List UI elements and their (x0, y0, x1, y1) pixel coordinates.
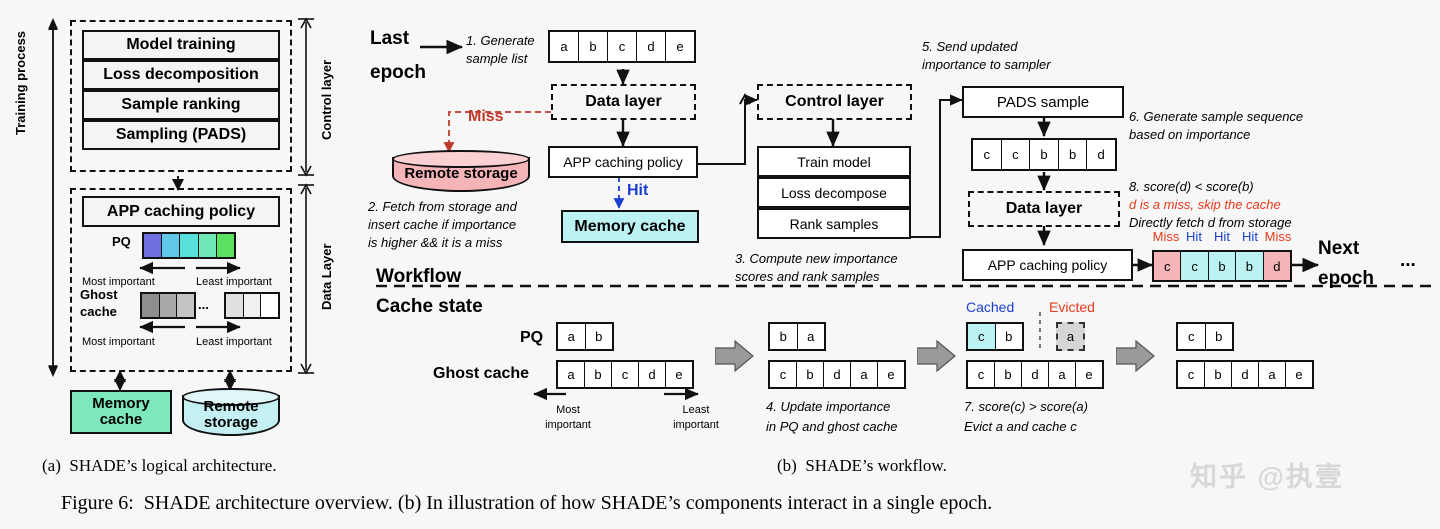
control-row-rank-samples-b: Rank samples (757, 208, 911, 239)
s2-pq-cell-1: a (798, 324, 825, 349)
step3-note-line2: scores and rank samples (735, 270, 880, 285)
pq-cell-0 (144, 234, 162, 257)
s3-ghost-cell-3: a (1049, 362, 1076, 387)
stage2-pq-strip: ba (768, 322, 826, 351)
s4-ghost-cell-4: e (1286, 362, 1312, 387)
stage-arrow-3 (1116, 340, 1156, 377)
step1-note-line2: sample list (466, 52, 527, 67)
hit-label-top: Hit (627, 182, 648, 200)
step5-note-line2: importance to sampler (922, 58, 1051, 73)
next-epoch-label-line1: Next (1318, 238, 1359, 259)
s4-ghost-cell-2: d (1232, 362, 1259, 387)
pq-cell-2 (180, 234, 198, 257)
remote-storage-label-b: Remote storage (404, 166, 517, 182)
ghost-cache-label-line2: cache (80, 305, 117, 320)
ghost-left-cell-1 (160, 294, 178, 317)
figure-shade-architecture: Training process Control layer Data Laye… (0, 0, 1440, 529)
memory-cache-box-a: Memory cache (70, 390, 172, 434)
pads-cell-1: c (1002, 140, 1031, 169)
stage1-most-important-l1: Most (538, 404, 598, 416)
sample-cell-2: c (608, 32, 637, 61)
control-row-sampling-pads: Sampling (PADS) (82, 120, 280, 150)
s2-ghost-cell-4: e (878, 362, 904, 387)
s2-ghost-cell-1: b (797, 362, 824, 387)
app-caching-policy-box-a: APP caching policy (82, 196, 280, 227)
control-row-sample-ranking: Sample ranking (82, 90, 280, 120)
control-layer-side-label: Control layer (320, 30, 335, 140)
next-epoch-ellipsis: ... (1400, 250, 1416, 271)
ghost-right-cell-1 (244, 294, 262, 317)
stage1-most-important-l2: important (528, 419, 608, 431)
step2-note-line2: insert cache if importance (368, 218, 516, 233)
step2-note-line3: is higher && it is a miss (368, 236, 502, 251)
final-seq-cell-4: d (1264, 252, 1290, 280)
data-layer-box-bottom: Data layer (968, 191, 1120, 227)
stage3-evicted-cell: a (1056, 322, 1085, 351)
final-seq-status-4: Miss (1260, 230, 1296, 245)
final-seq-cell-2: b (1209, 252, 1236, 280)
final-seq-cell-1: c (1181, 252, 1208, 280)
memory-cache-line2: cache (100, 412, 143, 428)
control-layer-box-b: Control layer (757, 84, 912, 120)
final-seq-cell-3: b (1236, 252, 1263, 280)
stage3-note-line2: Evict a and cache c (964, 420, 1077, 435)
s1-ghost-cell-3: d (639, 362, 666, 387)
last-epoch-label-line2: epoch (370, 62, 426, 83)
ghost-right-cell-2 (261, 294, 278, 317)
final-seq-cell-0: c (1154, 252, 1181, 280)
s4-ghost-cell-1: b (1205, 362, 1232, 387)
s1-ghost-cell-4: e (666, 362, 692, 387)
remote-storage-cylinder-b: Remote storage (392, 150, 530, 192)
training-process-label: Training process (14, 0, 29, 135)
sample-list-strip: abcde (548, 30, 696, 63)
cache-state-section-label: Cache state (376, 296, 483, 317)
step8-note-line1: 8. score(d) < score(b) (1129, 180, 1254, 195)
s4-pq-cell-1: b (1206, 324, 1233, 349)
ghost-strip-left-a (140, 292, 196, 319)
s3-ghost-cell-1: b (995, 362, 1022, 387)
s3-pq-cell-1: b (996, 324, 1023, 349)
s3-ghost-cell-0: c (968, 362, 995, 387)
pq-label-a: PQ (112, 235, 131, 250)
cached-label: Cached (966, 300, 1014, 316)
watermark: 知乎 @执壹 (1190, 455, 1344, 494)
remote-storage-line1: Remote (203, 399, 258, 415)
s1-pq-cell-1: b (586, 324, 613, 349)
control-row-loss-decompose-b: Loss decompose (757, 177, 911, 208)
stage2-note-line2: in PQ and ghost cache (766, 420, 898, 435)
stage1-pq-strip: ab (556, 322, 614, 351)
stage4-ghost-strip: cbdae (1176, 360, 1314, 389)
stage1-ghost-strip: abcde (556, 360, 694, 389)
control-row-loss-decomposition: Loss decomposition (82, 60, 280, 90)
s3-ghost-cell-2: d (1022, 362, 1049, 387)
s3-pq-cell-0: c (968, 324, 996, 349)
s2-ghost-cell-3: a (851, 362, 878, 387)
s3-ghost-cell-4: e (1076, 362, 1102, 387)
pads-cell-0: c (973, 140, 1002, 169)
step6-note-line1: 6. Generate sample sequence (1129, 110, 1303, 125)
ghost-left-cell-2 (177, 294, 194, 317)
pads-sample-box: PADS sample (962, 86, 1124, 118)
s1-ghost-cell-1: b (585, 362, 612, 387)
s4-pq-cell-0: c (1178, 324, 1206, 349)
sample-cell-0: a (550, 32, 579, 61)
step2-note-line1: 2. Fetch from storage and (368, 200, 517, 215)
cache-state-pq-label: PQ (520, 329, 543, 347)
step1-note-line1: 1. Generate (466, 34, 535, 49)
ghost-least-important-label: Least important (196, 336, 272, 348)
s1-ghost-cell-0: a (558, 362, 585, 387)
data-layer-box-top: Data layer (551, 84, 696, 120)
pads-cell-4: d (1087, 140, 1115, 169)
next-epoch-label-line2: epoch (1318, 268, 1374, 289)
figure-caption: Figure 6: SHADE architecture overview. (… (61, 492, 992, 514)
stage3-ghost-strip: cbdae (966, 360, 1104, 389)
miss-label-top: Miss (468, 108, 504, 126)
app-caching-policy-box-bottom: APP caching policy (962, 249, 1133, 281)
s4-ghost-cell-0: c (1178, 362, 1205, 387)
subcaption-b: (b) SHADE’s workflow. (777, 456, 947, 475)
step6-note-line2: based on importance (1129, 128, 1250, 143)
pads-cell-2: b (1030, 140, 1059, 169)
s2-ghost-cell-2: d (824, 362, 851, 387)
memory-cache-line1: Memory (92, 396, 150, 412)
pads-cell-3: b (1059, 140, 1088, 169)
workflow-section-label: Workflow (376, 266, 461, 287)
stage1-least-important-l2: important (656, 419, 736, 431)
final-sequence-strip: ccbbd (1152, 250, 1292, 282)
s4-ghost-cell-3: a (1259, 362, 1286, 387)
s1-ghost-cell-2: c (612, 362, 639, 387)
stage-arrow-1 (715, 340, 755, 377)
app-caching-policy-box-top: APP caching policy (548, 146, 698, 178)
sample-cell-1: b (579, 32, 608, 61)
pq-cell-1 (162, 234, 180, 257)
pq-least-important-label: Least important (196, 276, 272, 288)
stage4-pq-strip: cb (1176, 322, 1234, 351)
stage3-pq-strip: cb (966, 322, 1024, 351)
remote-storage-line2: storage (204, 415, 258, 431)
pads-sequence-strip: ccbbd (971, 138, 1117, 171)
step8-note-line2: d is a miss, skip the cache (1129, 198, 1281, 213)
pq-strip-a (142, 232, 236, 259)
ghost-cache-label-line1: Ghost (80, 288, 118, 303)
evicted-label: Evicted (1049, 300, 1095, 316)
control-row-train-model-b: Train model (757, 146, 911, 177)
ghost-right-cell-0 (226, 294, 244, 317)
s2-ghost-cell-0: c (770, 362, 797, 387)
s2-pq-cell-0: b (770, 324, 798, 349)
stage1-least-important-l1: Least (666, 404, 726, 416)
cache-state-ghost-label: Ghost cache (433, 365, 529, 383)
memory-cache-box-b: Memory cache (561, 210, 699, 243)
subcaption-a: (a) SHADE’s logical architecture. (42, 456, 277, 475)
sample-cell-3: d (637, 32, 666, 61)
ghost-ellipsis-a: ... (198, 298, 209, 313)
remote-storage-cylinder-a: Remote storage (182, 388, 280, 436)
pq-cell-4 (217, 234, 234, 257)
stage3-note-line1: 7. score(c) > score(a) (964, 400, 1088, 415)
ghost-left-cell-0 (142, 294, 160, 317)
stage-arrow-2 (917, 340, 957, 377)
ghost-strip-right-a (224, 292, 280, 319)
s1-pq-cell-0: a (558, 324, 586, 349)
step5-note-line1: 5. Send updated (922, 40, 1017, 55)
stage2-note-line1: 4. Update importance (766, 400, 890, 415)
step3-note-line1: 3. Compute new importance (735, 252, 898, 267)
sample-cell-4: e (666, 32, 694, 61)
control-row-model-training: Model training (82, 30, 280, 60)
last-epoch-label-line1: Last (370, 28, 409, 49)
data-layer-side-label: Data Layer (320, 200, 335, 310)
pq-cell-3 (199, 234, 217, 257)
ghost-most-important-label: Most important (82, 336, 155, 348)
stage2-ghost-strip: cbdae (768, 360, 906, 389)
